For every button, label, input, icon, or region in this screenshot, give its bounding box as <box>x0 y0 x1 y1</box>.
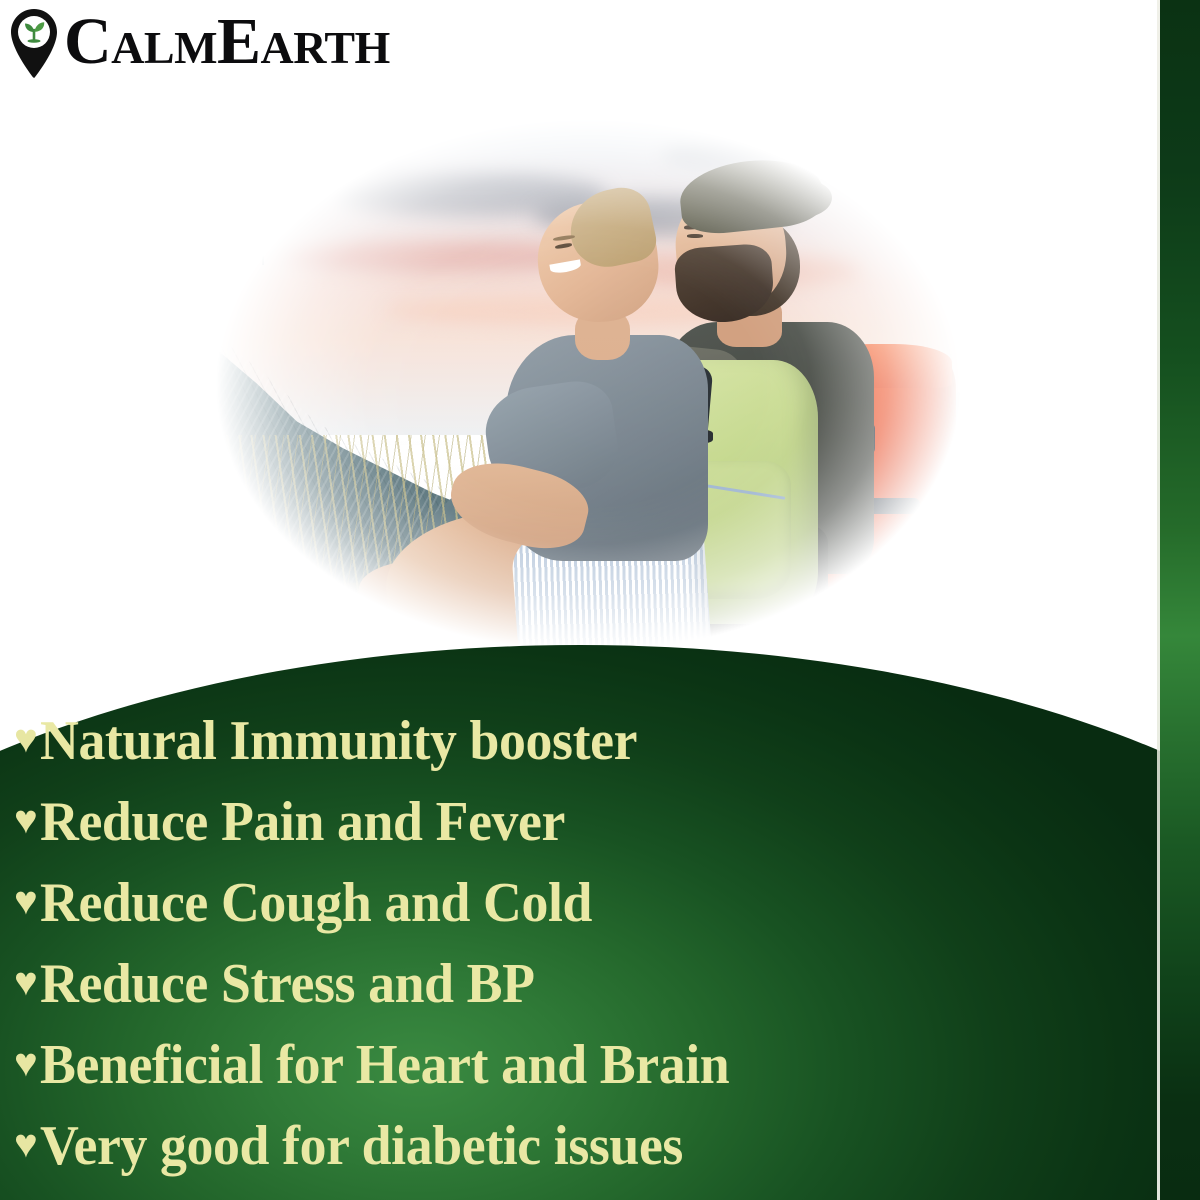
heart-icon: ♥ <box>14 1124 38 1164</box>
benefit-item: ♥ Beneficial for Heart and Brain <box>0 1024 1160 1105</box>
heart-icon: ♥ <box>14 1043 38 1083</box>
benefit-item: ♥ Reduce Cough and Cold <box>0 862 1160 943</box>
promo-poster: CalmEarth <box>0 0 1200 1200</box>
heart-icon: ♥ <box>14 719 38 759</box>
benefit-item: ♥ Very good for diabetic issues <box>0 1105 1160 1186</box>
photo-cloud <box>202 146 404 178</box>
benefit-label: Reduce Cough and Cold <box>40 875 592 931</box>
benefit-label: Reduce Pain and Fever <box>40 794 565 850</box>
benefit-label: Natural Immunity booster <box>40 713 637 769</box>
benefit-label: Beneficial for Heart and Brain <box>40 1037 729 1093</box>
hero-photo <box>110 70 1030 700</box>
heart-icon: ♥ <box>14 962 38 1002</box>
brand-logo[interactable]: CalmEarth <box>6 2 390 86</box>
benefit-item: ♥ Natural Immunity booster <box>0 700 1160 781</box>
brand-name: CalmEarth <box>64 9 390 75</box>
heart-icon: ♥ <box>14 800 38 840</box>
benefit-item: ♥ Reduce Pain and Fever <box>0 781 1160 862</box>
heart-icon: ♥ <box>14 881 38 921</box>
strip-divider <box>1157 0 1160 1200</box>
benefit-item: ♥ Reduce Stress and BP <box>0 943 1160 1024</box>
photo-summit-antenna <box>262 243 264 265</box>
side-accent-strip <box>1160 0 1200 1200</box>
man-eye <box>687 234 704 238</box>
benefits-list: ♥ Natural Immunity booster ♥ Reduce Pain… <box>0 700 1160 1186</box>
benefit-label: Very good for diabetic issues <box>40 1118 683 1174</box>
benefit-label: Reduce Stress and BP <box>40 956 535 1012</box>
map-pin-sprout-icon <box>6 7 62 81</box>
